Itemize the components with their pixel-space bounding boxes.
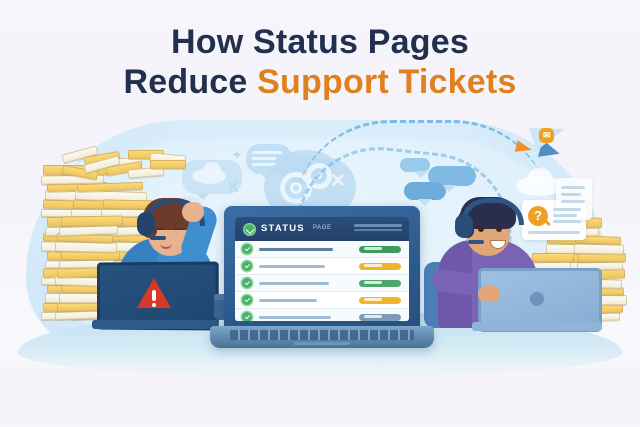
status-row-label: [259, 265, 325, 268]
cloud-icon-5: [74, 160, 114, 178]
status-row[interactable]: [235, 309, 409, 321]
left-agent-eye-right: [174, 228, 183, 230]
laptop-screen: STATUS PAGE: [235, 217, 409, 321]
faq-line-2: [553, 214, 577, 217]
status-row[interactable]: [235, 241, 409, 258]
green-check-icon: [242, 312, 252, 321]
left-agent-eye-left: [156, 228, 165, 230]
green-check-icon: [242, 244, 252, 254]
left-agent-headset-mic: [150, 236, 166, 240]
status-badge[interactable]: [359, 246, 401, 253]
right-agent-headset-mic: [468, 240, 484, 244]
right-agent-brow-right: [494, 219, 504, 221]
status-badge[interactable]: [359, 314, 401, 321]
laptop-lid: STATUS PAGE: [224, 206, 420, 332]
status-page-brand-suffix: PAGE: [313, 225, 332, 231]
status-row[interactable]: [235, 275, 409, 292]
green-check-icon: [242, 278, 252, 288]
green-check-circle-icon: [243, 223, 256, 236]
chat-bubble-2: [428, 166, 476, 186]
right-agent-eye-right: [496, 226, 502, 232]
x-mark-icon-2: ✕: [226, 178, 240, 198]
doc-line-1: [561, 186, 585, 189]
faq-line-4: [528, 231, 580, 234]
status-page-laptop: STATUS PAGE: [224, 206, 420, 338]
status-row-label: [259, 248, 333, 251]
green-check-icon: [242, 261, 252, 271]
status-row-label: [259, 316, 331, 319]
list-line-1: [252, 151, 282, 154]
title-line-2-orange: Support Tickets: [257, 63, 516, 101]
status-row[interactable]: [235, 258, 409, 275]
badge-glyph: ✉: [543, 130, 551, 141]
green-check-icon: [242, 295, 252, 305]
right-agent-brow-left: [476, 219, 486, 221]
title-line-2-navy: Reduce: [124, 63, 258, 101]
right-agent-laptop-logo: [530, 292, 544, 306]
cloud-icon-4: [528, 168, 552, 188]
poster-title: How Status Pages Reduce Support Tickets: [0, 22, 640, 102]
status-page-brand: STATUS: [261, 223, 305, 234]
left-agent-headset-earcup: [137, 212, 155, 236]
status-row[interactable]: [235, 292, 409, 309]
doc-line-2: [561, 193, 581, 196]
right-agent-eye-left: [478, 226, 484, 232]
status-page-meta: [354, 224, 402, 232]
status-page-rows: [235, 241, 409, 321]
doc-line-3: [561, 200, 585, 203]
status-row-label: [259, 299, 317, 302]
left-agent-brow-left: [155, 222, 165, 224]
faq-line-3: [553, 220, 581, 223]
chat-bubble-3: [400, 158, 430, 172]
left-agent-brow-right: [174, 222, 184, 224]
status-badge[interactable]: [359, 263, 401, 270]
warning-exclamation-dot: [152, 303, 156, 307]
left-agent-hand-on-head: [182, 202, 204, 222]
cloud-icon-1b: [203, 162, 221, 178]
title-line-1: How Status Pages: [0, 22, 640, 62]
status-row-label: [259, 282, 329, 285]
right-agent-hand: [478, 286, 500, 302]
status-badge[interactable]: [359, 297, 401, 304]
right-agent-laptop-base: [472, 322, 602, 331]
title-line-2: Reduce Support Tickets: [0, 62, 640, 102]
list-line-2: [252, 157, 276, 160]
poster-illustration: ✕ ✕ ✦ ✉ ?: [0, 0, 640, 427]
laptop-trackpad[interactable]: [294, 342, 350, 345]
faq-line-1: [553, 208, 581, 211]
laptop-keyboard-deck[interactable]: [210, 326, 434, 348]
status-badge[interactable]: [359, 280, 401, 287]
warning-exclamation-bar: [152, 290, 156, 301]
laptop-keys[interactable]: [230, 330, 414, 340]
right-agent-headset-earcup: [455, 214, 473, 238]
left-agent-laptop-base: [92, 320, 218, 329]
desk-fade: [0, 352, 640, 427]
x-mark-icon-3: ✦: [232, 148, 242, 162]
status-page-header: STATUS PAGE: [235, 217, 409, 241]
